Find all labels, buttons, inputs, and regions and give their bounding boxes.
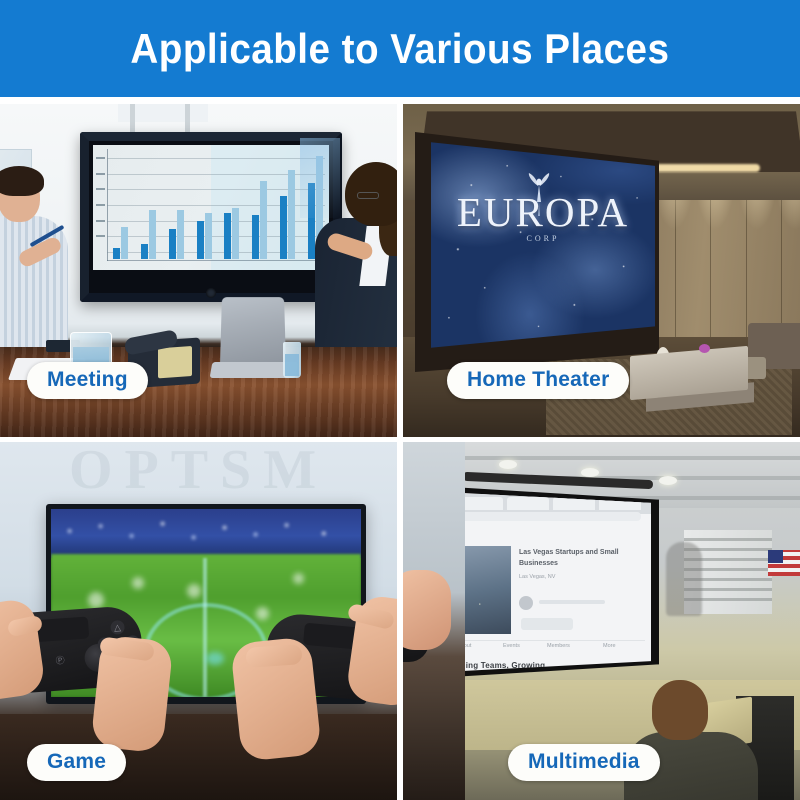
poster-root: Applicable to Various Places xyxy=(0,0,800,800)
scene-cell-game[interactable]: OPTSM xyxy=(0,442,403,800)
browser-tab xyxy=(461,497,503,510)
browser-tab xyxy=(553,497,595,510)
person-man xyxy=(0,172,68,347)
label-home-theater[interactable]: Home Theater xyxy=(447,362,629,399)
man-hair xyxy=(0,166,44,196)
starfield xyxy=(431,138,655,352)
wall-mounted-tv xyxy=(80,132,342,302)
blurred-player xyxy=(132,577,144,589)
screen-sublogo-text: CORP xyxy=(431,234,655,243)
scene-cell-meeting[interactable]: Meeting xyxy=(0,104,403,442)
page-meta: Las Vegas, NV xyxy=(519,574,555,580)
blurred-player xyxy=(88,592,104,608)
join-button xyxy=(521,618,573,630)
scene-cell-multimedia[interactable]: Las Vegas Startups and Small Businesses … xyxy=(403,442,800,800)
recessed-light xyxy=(581,468,599,477)
stadium-crowd xyxy=(51,509,361,558)
blurred-player xyxy=(256,607,269,620)
nav-item: Events xyxy=(503,643,520,649)
scene-grid: Meeting xyxy=(0,104,800,800)
label-game[interactable]: Game xyxy=(27,744,126,781)
browser-tab xyxy=(507,497,549,510)
organizer-name-line xyxy=(539,600,605,604)
image-watermark: OPTSM xyxy=(0,442,397,502)
screen-logo-text: EUROPA xyxy=(431,188,655,236)
center-line xyxy=(203,558,207,697)
projection-screen-frame: EUROPA CORP xyxy=(415,132,659,372)
woman-glasses xyxy=(357,192,379,199)
page-title: Applicable to Various Places xyxy=(130,25,669,73)
standing-presenter-silhouette xyxy=(666,542,702,616)
phone-keypad xyxy=(158,346,192,378)
nav-item: Members xyxy=(547,643,570,649)
header-banner: Applicable to Various Places xyxy=(0,0,800,97)
playstation-logo-icon: Ⓟ xyxy=(54,654,66,666)
attendee-head xyxy=(652,680,708,740)
scene-cell-home-theater[interactable]: EUROPA CORP Home Theater xyxy=(403,104,800,442)
recessed-light xyxy=(499,460,517,469)
man-shirt xyxy=(0,216,68,351)
flower-decoration xyxy=(699,344,710,353)
water-glass xyxy=(283,342,301,378)
nav-item: More xyxy=(603,643,616,649)
finger xyxy=(245,644,302,668)
blurred-player xyxy=(293,573,304,584)
flag xyxy=(768,550,800,576)
label-meeting[interactable]: Meeting xyxy=(27,362,148,399)
person-woman xyxy=(313,170,397,350)
browser-tab xyxy=(599,497,641,510)
flag-union xyxy=(768,550,783,563)
blind-slat xyxy=(684,538,772,541)
hand-edge xyxy=(403,570,451,650)
hud-element xyxy=(206,652,224,665)
recessed-light xyxy=(659,476,677,485)
page-headline: Las Vegas Startups and Small Businesses xyxy=(519,548,635,569)
adjacent-photo-sliver xyxy=(403,442,465,800)
glass-water xyxy=(285,354,299,376)
projection-screen: EUROPA CORP xyxy=(431,138,655,352)
laptop-lid xyxy=(220,297,286,365)
seated-attendee xyxy=(628,680,748,800)
label-multimedia[interactable]: Multimedia xyxy=(508,744,660,781)
organizer-avatar xyxy=(519,596,533,610)
